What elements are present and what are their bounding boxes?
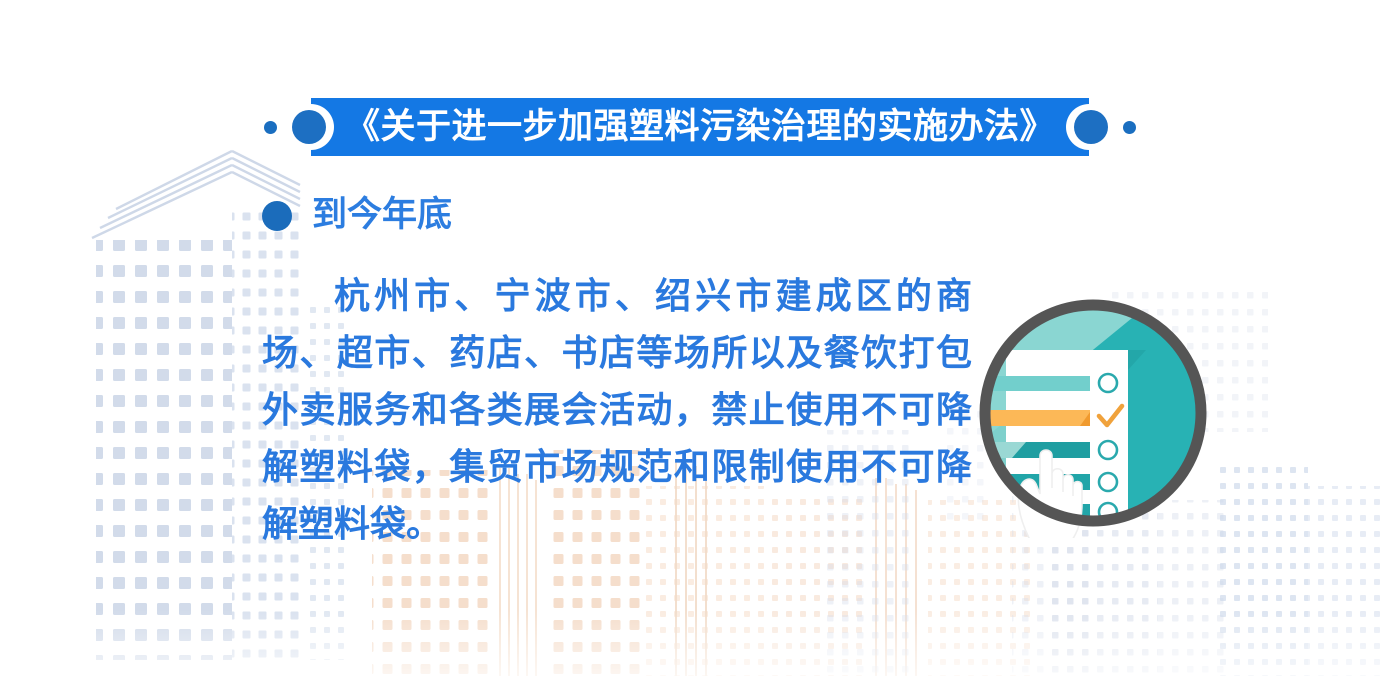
banner-ribbon: 《关于进一步加强塑料污染治理的实施办法》 bbox=[311, 98, 1089, 156]
body-paragraph: 杭州市、宁波市、绍兴市建成区的商场、超市、药店、书店等场所以及餐饮打包外卖服务和… bbox=[262, 268, 972, 553]
decoration-dot-right bbox=[1123, 121, 1136, 134]
building-right-b bbox=[1212, 462, 1384, 676]
section-heading-label: 到今年底 bbox=[312, 198, 452, 233]
bullet-circle-icon bbox=[262, 201, 292, 231]
decoration-dot-left bbox=[264, 121, 277, 134]
section-heading: 到今年底 bbox=[262, 198, 452, 233]
checklist-illustration bbox=[968, 288, 1218, 538]
page-title: 《关于进一步加强塑料污染治理的实施办法》 bbox=[345, 110, 1055, 145]
poster-canvas: 《关于进一步加强塑料污染治理的实施办法》 到今年底 杭州市、宁波市、绍兴市建成区… bbox=[0, 0, 1400, 700]
banner-ribbon-body: 《关于进一步加强塑料污染治理的实施办法》 bbox=[311, 98, 1089, 156]
decoration-circle-left bbox=[292, 110, 326, 144]
decoration-circle-right bbox=[1074, 110, 1108, 144]
title-banner: 《关于进一步加强塑料污染治理的实施办法》 bbox=[0, 98, 1400, 156]
